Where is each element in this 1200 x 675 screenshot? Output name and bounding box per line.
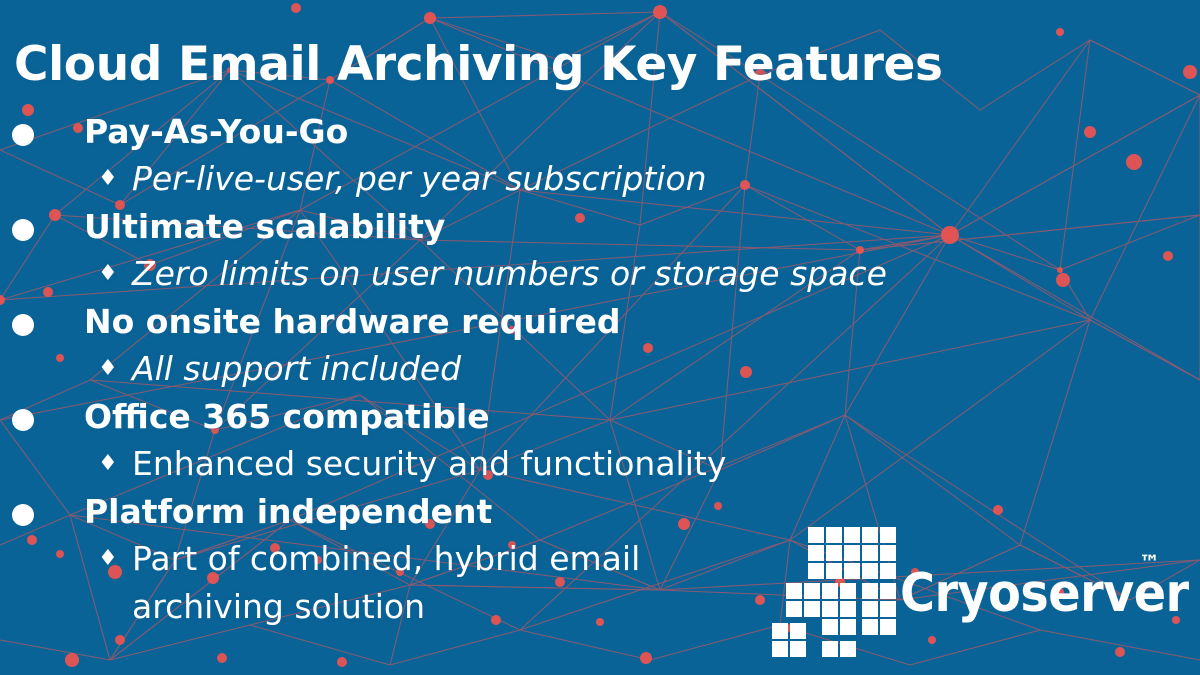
sub-bullet-label: Part of combined, hybrid email [132,535,640,583]
sub-bullet-label: Enhanced security and functionality [132,440,726,488]
bullet-label: Platform independent [84,492,492,531]
feature-group-1: Pay-As-You-Go ♦ Per-live-user, per year … [0,108,1200,203]
trademark-symbol: ™ [1139,553,1160,574]
feature-group-3: No onsite hardware required ♦ All suppor… [0,298,1200,393]
bullet-dot-icon [12,409,34,431]
bullet-dot-icon [12,314,34,336]
bullet-dot-icon [12,124,34,146]
sub-bullet-label: All support included [132,345,461,393]
sub-bullet-item-all-support-included: ♦ All support included [0,345,1200,393]
feature-group-4: Office 365 compatible ♦ Enhanced securit… [0,393,1200,488]
sub-bullet-label: archiving solution [132,583,425,631]
diamond-icon: ♦ [98,155,118,203]
bullet-dot-icon [12,504,34,526]
bullet-label: Ultimate scalability [84,207,445,246]
sub-bullet-item-enhanced-security: ♦ Enhanced security and functionality [0,440,1200,488]
page-title: Cloud Email Archiving Key Features [14,39,943,91]
diamond-icon: ♦ [98,250,118,298]
bullet-label: No onsite hardware required [84,302,620,341]
sub-bullet-label: Per-live-user, per year subscription [132,155,707,203]
cryoserver-logo: Cryoserver ™ [772,527,1192,652]
bullet-item-pay-as-you-go: Pay-As-You-Go [0,108,1200,155]
sub-bullet-label: Zero limits on user numbers or storage s… [132,250,887,298]
diamond-icon: ♦ [98,535,118,583]
bullet-dot-icon [12,219,34,241]
bullet-label: Office 365 compatible [84,397,490,436]
sub-bullet-item-per-live-user: ♦ Per-live-user, per year subscription [0,155,1200,203]
bullet-item-ultimate-scalability: Ultimate scalability [0,203,1200,250]
bullet-item-no-onsite-hardware: No onsite hardware required [0,298,1200,345]
slide-canvas: Cloud Email Archiving Key Features Pay-A… [0,0,1200,675]
feature-group-2: Ultimate scalability ♦ Zero limits on us… [0,203,1200,298]
cryoserver-pixel-grid-logo-icon [772,527,894,647]
diamond-icon: ♦ [98,440,118,488]
bullet-item-office-365-compatible: Office 365 compatible [0,393,1200,440]
sub-bullet-item-zero-limits: ♦ Zero limits on user numbers or storage… [0,250,1200,298]
bullet-label: Pay-As-You-Go [84,112,348,151]
diamond-icon: ♦ [98,345,118,393]
